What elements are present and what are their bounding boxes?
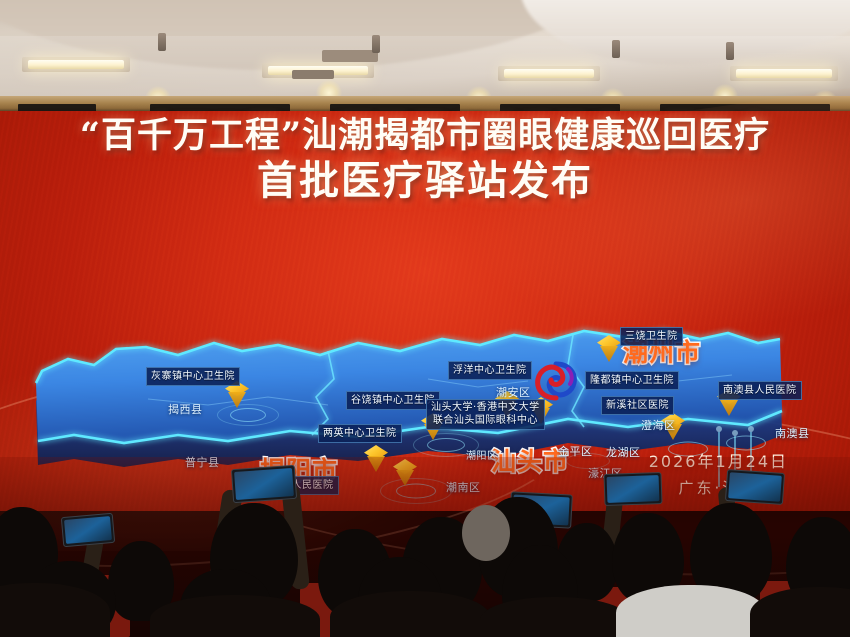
pin-base-icon: [600, 346, 618, 362]
phone-screen: [64, 516, 112, 544]
audience: [0, 457, 850, 637]
audience-shoulders: [150, 595, 320, 637]
station-label-joint-eye-center[interactable]: 汕头大学·香港中文大学 联合汕头国际眼科中心: [426, 399, 545, 430]
audience-shoulders: [330, 591, 490, 637]
ceiling-spotlight: [612, 40, 620, 58]
phone-screen: [234, 468, 294, 500]
station-label-nanao-people[interactable]: 南澳县人民医院: [718, 381, 802, 400]
district-label-chaoan: 潮安区: [496, 384, 531, 400]
station-label-fuyang[interactable]: 浮洋中心卫生院: [448, 361, 532, 380]
ceiling-vent: [322, 50, 378, 62]
audience-shoulders: [480, 597, 630, 637]
eye-spiral-icon: [534, 361, 578, 401]
ceiling-light-panel: [28, 60, 124, 69]
joint-center-line-1: 汕头大学·香港中文大学: [431, 402, 540, 415]
led-stage-screen: “百千万工程”汕潮揭都市圈眼健康巡回医疗 首批医疗驿站发布: [0, 111, 850, 511]
station-label-xinxi[interactable]: 新溪社区医院: [601, 396, 674, 415]
phone-screen: [728, 472, 782, 502]
county-label-jiexi: 揭西县: [168, 401, 203, 417]
smartphone[interactable]: [61, 513, 115, 547]
ceiling-spotlight: [372, 35, 380, 53]
ceiling-light-panel: [504, 69, 594, 78]
ceiling: [0, 0, 850, 113]
pin-base-icon: [228, 392, 246, 408]
smartphone[interactable]: [725, 469, 785, 505]
pin-base-icon: [720, 400, 738, 416]
ceiling-spotlight: [158, 33, 166, 51]
county-label-nanao: 南澳县: [775, 425, 810, 441]
smartphone[interactable]: [231, 465, 297, 503]
audience-shoulders-light: [616, 585, 766, 637]
station-label-longdu[interactable]: 隆都镇中心卫生院: [585, 371, 679, 390]
station-label-liangying[interactable]: 两英中心卫生院: [318, 424, 402, 443]
station-marker-pin[interactable]: [596, 335, 622, 365]
ceiling-spotlight: [726, 42, 734, 60]
station-label-huizhai[interactable]: 灰寨镇中心卫生院: [146, 367, 240, 386]
smartphone[interactable]: [603, 472, 662, 506]
joint-center-line-2: 联合汕头国际眼科中心: [431, 415, 540, 428]
audience-head-gray-hair: [462, 505, 510, 561]
district-label-chenghai: 澄海区: [641, 417, 676, 433]
ceiling-vent: [292, 70, 334, 79]
phone-screen: [607, 475, 660, 503]
presentation-photo: “百千万工程”汕潮揭都市圈眼健康巡回医疗 首批医疗驿站发布: [0, 0, 850, 637]
ceiling-light-panel: [736, 69, 832, 78]
station-label-sanrao[interactable]: 三饶卫生院: [620, 327, 683, 346]
eye-spiral-emblem: [534, 361, 578, 401]
